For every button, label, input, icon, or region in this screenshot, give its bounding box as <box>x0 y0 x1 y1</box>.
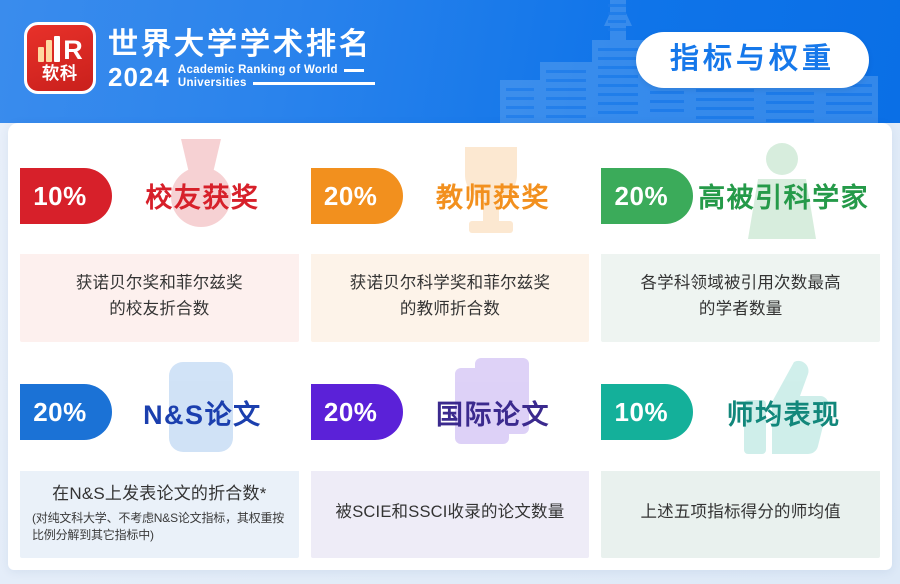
logo-bars: R <box>38 36 82 62</box>
card-description-area: 在N&S上发表论文的折合数*(对纯文科大学、不考虑N&S论文指标，其权重按比例分… <box>20 471 299 559</box>
indicators-panel: 10%校友获奖获诺贝尔奖和菲尔兹奖的校友折合数20%教师获奖获诺贝尔科学奖和菲尔… <box>8 123 892 570</box>
logo-bar-3 <box>54 36 60 62</box>
card-title: N&S论文 <box>112 393 299 432</box>
card-description-area: 上述五项指标得分的师均值 <box>601 471 880 559</box>
logo-letter-r: R <box>63 38 82 62</box>
card-description-area: 获诺贝尔科学奖和菲尔兹奖的教师折合数 <box>311 254 590 342</box>
brand-lockup: R 软科 世界大学学术排名 2024 Academic Ranking of W… <box>24 22 375 94</box>
indicator-card-per-capita-performance[interactable]: 10%师均表现上述五项指标得分的师均值 <box>601 354 880 559</box>
card-header: 20%N&S论文 <box>20 354 299 471</box>
weight-badge: 20% <box>311 168 403 224</box>
logo-bar-1 <box>38 47 44 62</box>
weight-value: 10% <box>33 181 87 211</box>
infographic-page: R 软科 世界大学学术排名 2024 Academic Ranking of W… <box>0 0 900 584</box>
brand-title-en: Academic Ranking of World Universities <box>178 64 375 90</box>
card-title: 高被引科学家 <box>693 176 880 215</box>
shanghairanking-logo-icon: R 软科 <box>24 22 96 94</box>
logo-bar-2 <box>46 40 52 62</box>
weight-badge: 20% <box>601 168 693 224</box>
indicator-card-ns-papers[interactable]: 20%N&S论文在N&S上发表论文的折合数*(对纯文科大学、不考虑N&S论文指标… <box>20 354 299 559</box>
weight-value: 20% <box>324 181 378 211</box>
weight-badge: 20% <box>311 384 403 440</box>
card-description-area: 各学科领域被引用次数最高的学者数量 <box>601 254 880 342</box>
indicator-card-international-papers[interactable]: 20%国际论文被SCIE和SSCI收录的论文数量 <box>311 354 590 559</box>
card-header: 20%国际论文 <box>311 354 590 471</box>
brand-title-cn: 世界大学学术排名 <box>108 27 375 63</box>
brand-year: 2024 <box>108 64 170 90</box>
card-description-area: 获诺贝尔奖和菲尔兹奖的校友折合数 <box>20 254 299 342</box>
brand-text: 世界大学学术排名 2024 Academic Ranking of World … <box>108 27 375 90</box>
section-title-badge: 指标与权重 <box>636 32 869 88</box>
indicator-card-highly-cited-researchers[interactable]: 20%高被引科学家各学科领域被引用次数最高的学者数量 <box>601 137 880 342</box>
logo-cn-text: 软科 <box>42 64 78 83</box>
card-description: 各学科领域被引用次数最高的学者数量 <box>640 270 840 322</box>
card-description: 获诺贝尔科学奖和菲尔兹奖的教师折合数 <box>350 270 550 322</box>
weight-value: 20% <box>615 181 669 211</box>
card-description: 在N&S上发表论文的折合数* <box>32 481 287 507</box>
weight-badge: 10% <box>20 168 112 224</box>
weight-value: 10% <box>615 397 669 427</box>
weight-value: 20% <box>324 397 378 427</box>
brand-en-line2-row: Universities <box>178 77 375 90</box>
page-header: R 软科 世界大学学术排名 2024 Academic Ranking of W… <box>0 0 900 123</box>
weight-badge: 10% <box>601 384 693 440</box>
card-description: 上述五项指标得分的师均值 <box>640 499 840 525</box>
card-title: 师均表现 <box>693 393 880 432</box>
card-title: 国际论文 <box>403 393 590 432</box>
card-header: 20%高被引科学家 <box>601 137 880 254</box>
card-title: 教师获奖 <box>403 176 590 215</box>
brand-en-line1: Academic Ranking of World <box>178 64 338 77</box>
indicator-card-alumni-award[interactable]: 10%校友获奖获诺贝尔奖和菲尔兹奖的校友折合数 <box>20 137 299 342</box>
card-title: 校友获奖 <box>112 176 299 215</box>
brand-subtitle-row: 2024 Academic Ranking of World Universit… <box>108 64 375 90</box>
card-description: 获诺贝尔奖和菲尔兹奖的校友折合数 <box>76 270 243 322</box>
card-header: 20%教师获奖 <box>311 137 590 254</box>
card-description-area: 被SCIE和SSCI收录的论文数量 <box>311 471 590 559</box>
brand-rule-short <box>344 69 364 72</box>
card-header: 10%校友获奖 <box>20 137 299 254</box>
brand-rule-long <box>253 82 375 85</box>
card-header: 10%师均表现 <box>601 354 880 471</box>
weight-badge: 20% <box>20 384 112 440</box>
weight-value: 20% <box>33 397 87 427</box>
indicator-card-faculty-award[interactable]: 20%教师获奖获诺贝尔科学奖和菲尔兹奖的教师折合数 <box>311 137 590 342</box>
section-title-text: 指标与权重 <box>670 42 835 76</box>
brand-en-line1-row: Academic Ranking of World <box>178 64 375 77</box>
card-description: 被SCIE和SSCI收录的论文数量 <box>336 499 565 525</box>
card-footnote: (对纯文科大学、不考虑N&S论文指标，其权重按比例分解到其它指标中) <box>32 510 287 544</box>
indicator-grid: 10%校友获奖获诺贝尔奖和菲尔兹奖的校友折合数20%教师获奖获诺贝尔科学奖和菲尔… <box>20 137 880 558</box>
brand-en-line2: Universities <box>178 77 247 90</box>
